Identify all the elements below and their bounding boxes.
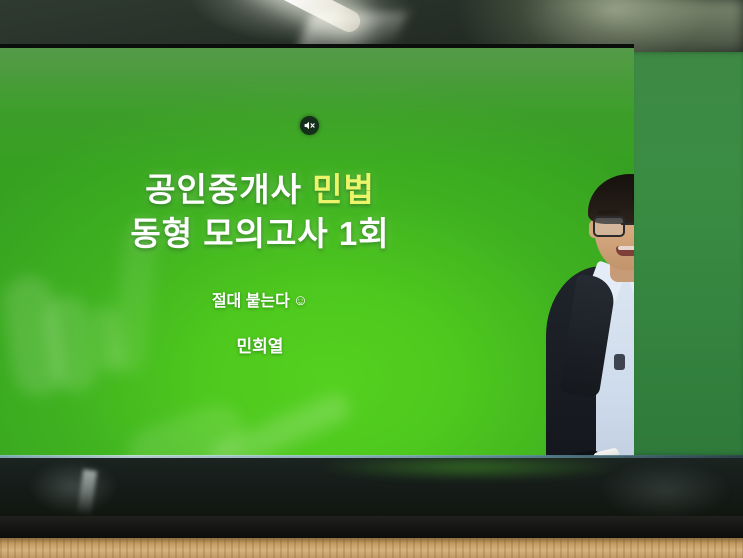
- glasses-lens-left: [593, 216, 625, 237]
- glass-reflection-right: [600, 462, 730, 518]
- screen-haze: [0, 48, 634, 168]
- glass-reflection-green: [320, 458, 620, 480]
- secondary-green-panel: [628, 52, 743, 456]
- glass-reflection-object: [28, 460, 118, 514]
- presenter-teeth: [618, 246, 634, 250]
- display-lower-glass: [0, 458, 743, 520]
- glasses-bridge: [621, 223, 634, 225]
- lavalier-mic-icon: [614, 354, 625, 370]
- main-display: 공인중개사 민법 동형 모의고사 1회 절대 붙는다☺ 민희열: [0, 48, 634, 456]
- glasses-icon: [592, 216, 634, 233]
- wooden-ledge: [0, 538, 743, 558]
- presenter-figure: [540, 160, 634, 456]
- display-bezel-bottom: [0, 516, 743, 540]
- mute-speaker-icon[interactable]: [300, 116, 319, 135]
- studio-photo: 공인중개사 민법 동형 모의고사 1회 절대 붙는다☺ 민희열: [0, 0, 743, 558]
